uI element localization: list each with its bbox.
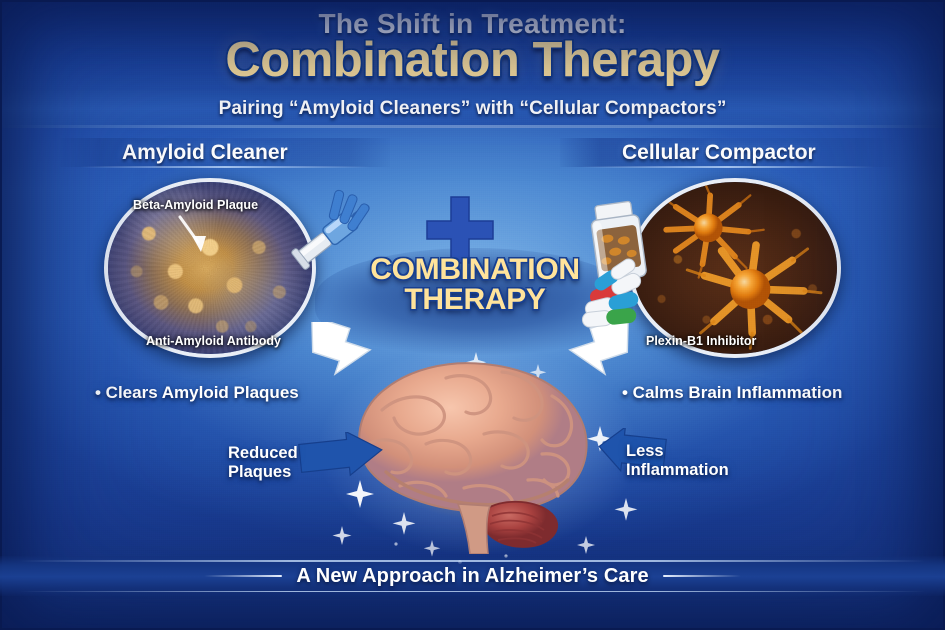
combination-therapy-text: COMBINATION THERAPY xyxy=(335,255,615,316)
infographic-poster: The Shift in Treatment: Combination Ther… xyxy=(0,0,945,630)
footer-rule-left xyxy=(204,575,282,578)
combo-line-2: THERAPY xyxy=(335,285,615,316)
title-line-2: Combination Therapy xyxy=(0,36,945,86)
section-banner-right-label: Cellular Compactor xyxy=(622,141,816,165)
beta-amyloid-plaque-label: Beta-Amyloid Plaque xyxy=(133,198,258,212)
plaque-pointer-arrow-icon xyxy=(174,214,214,256)
anti-amyloid-antibody-label: Anti-Amyloid Antibody xyxy=(146,334,281,348)
subtitle-band: Pairing “Amyloid Cleaners” with “Cellula… xyxy=(0,90,945,128)
arrow-from-cellular-compactor-icon xyxy=(560,322,642,384)
plexin-b1-inhibitor-label: Plexin-B1 Inhibitor xyxy=(646,334,756,348)
footer-text: A New Approach in Alzheimer’s Care xyxy=(296,565,648,588)
combo-line-1: COMBINATION xyxy=(335,255,615,285)
section-banner-left-label: Amyloid Cleaner xyxy=(122,141,288,165)
arrow-from-amyloid-cleaner-icon xyxy=(298,322,378,384)
subtitle-text: Pairing “Amyloid Cleaners” with “Cellula… xyxy=(219,98,727,120)
outcome-left-line-2: Plaques xyxy=(228,463,298,482)
arrow-reduced-plaques-icon xyxy=(296,432,388,498)
bullet-calms-brain-inflammation: • Calms Brain Inflammation xyxy=(622,383,842,403)
outcome-less-inflammation: Less Inflammation xyxy=(626,442,729,481)
outcome-reduced-plaques: Reduced Plaques xyxy=(228,444,298,483)
footer-band: A New Approach in Alzheimer’s Care xyxy=(0,556,945,596)
section-banner-cellular-compactor: Cellular Compactor xyxy=(560,138,895,167)
section-banner-amyloid-cleaner: Amyloid Cleaner xyxy=(60,138,390,167)
outcome-right-line-1: Less xyxy=(626,442,729,461)
footer-rule-right xyxy=(663,575,741,578)
bullet-clears-amyloid-plaques: • Clears Amyloid Plaques xyxy=(95,383,299,403)
outcome-left-line-1: Reduced xyxy=(228,444,298,463)
outcome-right-line-2: Inflammation xyxy=(626,461,729,480)
